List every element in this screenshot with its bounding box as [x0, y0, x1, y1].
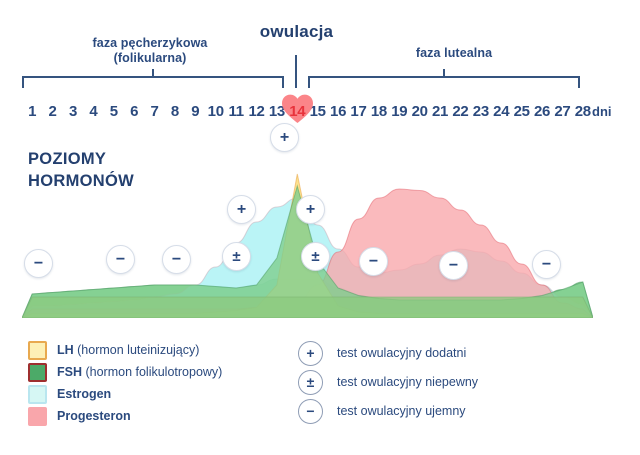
day-label-26: 26: [531, 103, 553, 120]
day-label-19: 19: [388, 103, 410, 120]
test-legend-item-positive[interactable]: +test owulacyjny dodatni: [298, 340, 478, 366]
day-label-9: 9: [184, 103, 206, 120]
legend-item-lh[interactable]: LH (hormon luteinizujący): [28, 340, 222, 360]
day-label-7: 7: [144, 103, 166, 120]
test-marker-uncertain-day-11[interactable]: ±: [222, 242, 251, 271]
test-legend-item-negative[interactable]: −test owulacyjny ujemny: [298, 398, 478, 424]
day-label-20: 20: [409, 103, 431, 120]
test-marker-glyph: −: [440, 252, 467, 279]
test-icon-glyph: ±: [299, 371, 322, 394]
bracket-center-tick: [152, 69, 154, 77]
test-legend-item-uncertain[interactable]: ±test owulacyjny niepewny: [298, 369, 478, 395]
legend-swatch-fsh: [28, 363, 47, 382]
day-label-16: 16: [327, 103, 349, 120]
day-label-27: 27: [551, 103, 573, 120]
test-marker-glyph: −: [163, 246, 190, 273]
test-marker-glyph: ±: [223, 243, 250, 270]
legend-swatch-progesteron: [28, 407, 47, 426]
legend-swatch-lh: [28, 341, 47, 360]
bracket-right-tick: [282, 76, 284, 88]
day-label-25: 25: [511, 103, 533, 120]
day-label-6: 6: [123, 103, 145, 120]
day-label-17: 17: [347, 103, 369, 120]
test-marker-negative-day-27[interactable]: −: [532, 250, 561, 279]
day-label-10: 10: [205, 103, 227, 120]
test-marker-uncertain-day-16[interactable]: ±: [301, 242, 330, 271]
day-label-3: 3: [62, 103, 84, 120]
follicular-phase-label-line2: (folikularna): [44, 51, 256, 66]
day-label-14: 14: [286, 103, 308, 120]
day-label-5: 5: [103, 103, 125, 120]
bracket-left-tick: [308, 76, 310, 88]
hormone-legend: LH (hormon luteinizujący)FSH (hormon fol…: [28, 340, 222, 428]
test-marker-positive-day-14[interactable]: +: [270, 123, 299, 152]
follicular-phase-label: faza pęcherzykowa (folikularna): [44, 36, 256, 66]
legend-label-progesteron: Progesteron: [57, 409, 131, 423]
day-axis: 1234567891011121314151617181920212223242…: [0, 103, 640, 127]
follicular-phase-label-line1: faza pęcherzykowa: [44, 36, 256, 51]
test-marker-glyph: −: [360, 248, 387, 275]
ovulation-divider-line: [295, 55, 297, 88]
test-icon-glyph: +: [299, 342, 322, 365]
day-label-28: 28: [572, 103, 594, 120]
test-legend-label-positive: test owulacyjny dodatni: [337, 346, 466, 360]
test-marker-glyph: −: [533, 251, 560, 278]
hormone-cycle-infographic: owulacja faza pęcherzykowa (folikularna)…: [0, 0, 640, 455]
test-marker-negative-day-19[interactable]: −: [359, 247, 388, 276]
day-label-21: 21: [429, 103, 451, 120]
test-marker-glyph: +: [228, 196, 255, 223]
day-label-11: 11: [225, 103, 247, 120]
test-marker-glyph: −: [107, 246, 134, 273]
test-legend-label-negative: test owulacyjny ujemny: [337, 404, 466, 418]
test-marker-positive-day-11[interactable]: +: [227, 195, 256, 224]
day-label-23: 23: [470, 103, 492, 120]
test-marker-negative-day-8[interactable]: −: [162, 245, 191, 274]
test-marker-glyph: +: [271, 124, 298, 151]
test-marker-glyph: ±: [302, 243, 329, 270]
day-label-22: 22: [449, 103, 471, 120]
bracket-right-tick: [578, 76, 580, 88]
test-marker-negative-day-5[interactable]: −: [106, 245, 135, 274]
day-label-2: 2: [42, 103, 64, 120]
legend-label-estrogen: Estrogen: [57, 387, 111, 401]
legend-item-estrogen[interactable]: Estrogen: [28, 384, 222, 404]
luteal-phase-label: faza lutealna: [330, 46, 578, 61]
test-positive-icon: +: [298, 341, 323, 366]
day-label-4: 4: [82, 103, 104, 120]
day-label-18: 18: [368, 103, 390, 120]
test-marker-negative-day-23[interactable]: −: [439, 251, 468, 280]
series-baseline-strip: [22, 297, 593, 318]
test-marker-positive-day-16[interactable]: +: [296, 195, 325, 224]
test-negative-icon: −: [298, 399, 323, 424]
legend-item-fsh[interactable]: FSH (hormon folikulotropowy): [28, 362, 222, 382]
day-label-1: 1: [21, 103, 43, 120]
legend-label-lh: LH (hormon luteinizujący): [57, 343, 199, 357]
legend-label-fsh: FSH (hormon folikulotropowy): [57, 365, 222, 379]
test-marker-glyph: −: [25, 250, 52, 277]
test-legend-label-uncertain: test owulacyjny niepewny: [337, 375, 478, 389]
day-label-24: 24: [490, 103, 512, 120]
legend-swatch-estrogen: [28, 385, 47, 404]
bracket-center-tick: [443, 69, 445, 77]
test-marker-negative-day-1[interactable]: −: [24, 249, 53, 278]
legend-item-progesteron[interactable]: Progesteron: [28, 406, 222, 426]
day-label-12: 12: [246, 103, 268, 120]
test-uncertain-icon: ±: [298, 370, 323, 395]
test-marker-glyph: +: [297, 196, 324, 223]
bracket-left-tick: [22, 76, 24, 88]
hormone-levels-chart: [0, 130, 640, 325]
days-unit-label: dni: [592, 104, 612, 119]
day-label-8: 8: [164, 103, 186, 120]
test-result-legend: +test owulacyjny dodatni±test owulacyjny…: [298, 340, 478, 427]
test-icon-glyph: −: [299, 400, 322, 423]
